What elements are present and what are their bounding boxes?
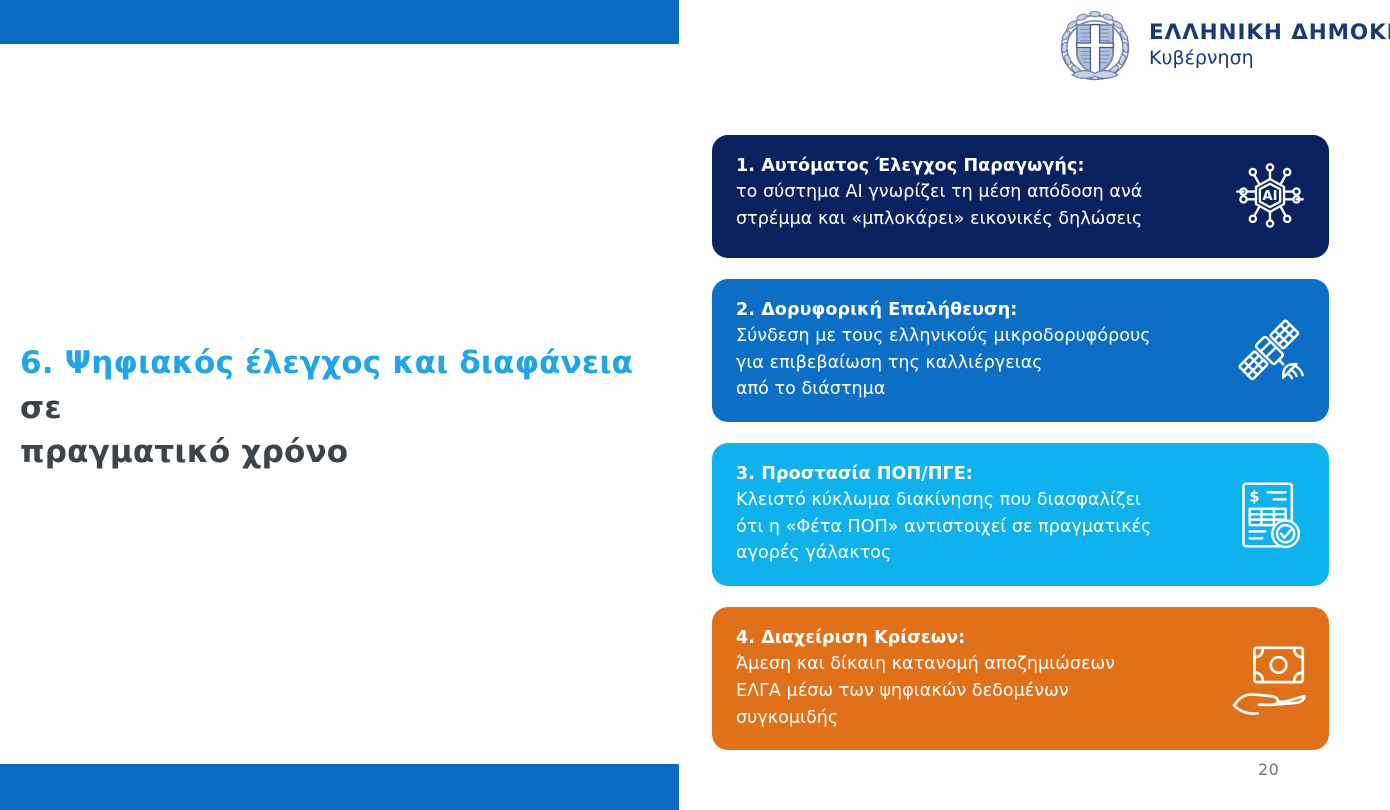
feature-card-crisis-management: 4. Διαχείριση Κρίσεων: Άμεση και δίκαιη … [712, 607, 1329, 750]
card-title: 4. Διαχείριση Κρίσεων: [736, 625, 1209, 651]
bottom-decorative-bar [0, 764, 679, 810]
card-text: Άμεση και δίκαιη κατανομή αποζημιώσεων Ε… [736, 651, 1209, 731]
feature-card-list: 1. Αυτόματος Έλεγχος Παραγωγής: το σύστη… [712, 135, 1329, 750]
greek-coat-of-arms-icon [1057, 8, 1133, 84]
card-text: Κλειστό κύκλωμα διακίνησης που διασφαλίζ… [736, 487, 1209, 567]
svg-text:$: $ [1249, 488, 1259, 505]
top-decorative-bar [0, 0, 679, 44]
feature-card-automated-production-control: 1. Αυτόματος Έλεγχος Παραγωγής: το σύστη… [712, 135, 1329, 258]
logo-subtitle: Κυβέρνηση [1149, 47, 1390, 71]
ai-chip-icon: AI [1231, 158, 1309, 236]
card-body: 4. Διαχείριση Κρίσεων: Άμεση και δίκαιη … [736, 625, 1305, 731]
government-logo: ΕΛΛΗΝΙΚΗ ΔΗΜΟΚΡΑΤΙΑ Κυβέρνηση [1057, 8, 1390, 84]
card-text: Σύνδεση με τους ελληνικούς μικροδορυφόρο… [736, 323, 1209, 403]
card-title: 2. Δορυφορική Επαλήθευση: [736, 297, 1209, 323]
svg-text:AI: AI [1262, 189, 1277, 204]
card-body: 1. Αυτόματος Έλεγχος Παραγωγής: το σύστη… [736, 153, 1305, 232]
hand-holding-money-icon [1231, 640, 1309, 718]
verified-invoice-icon: $ [1231, 476, 1309, 554]
logo-wordmark: ΕΛΛΗΝΙΚΗ ΔΗΜΟΚΡΑΤΙΑ Κυβέρνηση [1149, 21, 1390, 71]
headline-accent: 6. Ψηφιακός έλεγχος και διαφάνεια [20, 345, 633, 381]
feature-card-satellite-verification: 2. Δορυφορική Επαλήθευση: Σύνδεση με του… [712, 279, 1329, 422]
logo-title: ΕΛΛΗΝΙΚΗ ΔΗΜΟΚΡΑΤΙΑ [1149, 21, 1390, 45]
card-title: 1. Αυτόματος Έλεγχος Παραγωγής: [736, 153, 1209, 179]
page-number: 20 [1258, 760, 1279, 779]
feature-card-pdo-pgi-protection: 3. Προστασία ΠΟΠ/ΠΓΕ: Κλειστό κύκλωμα δι… [712, 443, 1329, 586]
card-body: 2. Δορυφορική Επαλήθευση: Σύνδεση με του… [736, 297, 1305, 403]
headline-second-line: πραγματικό χρόνο [20, 434, 348, 470]
slide-headline: 6. Ψηφιακός έλεγχος και διαφάνεια σε πρα… [20, 341, 640, 475]
headline-rest: σε [20, 390, 62, 426]
card-body: 3. Προστασία ΠΟΠ/ΠΓΕ: Κλειστό κύκλωμα δι… [736, 461, 1305, 567]
satellite-icon [1231, 312, 1309, 390]
card-title: 3. Προστασία ΠΟΠ/ΠΓΕ: [736, 461, 1209, 487]
card-text: το σύστημα AI γνωρίζει τη μέση απόδοση α… [736, 179, 1209, 232]
